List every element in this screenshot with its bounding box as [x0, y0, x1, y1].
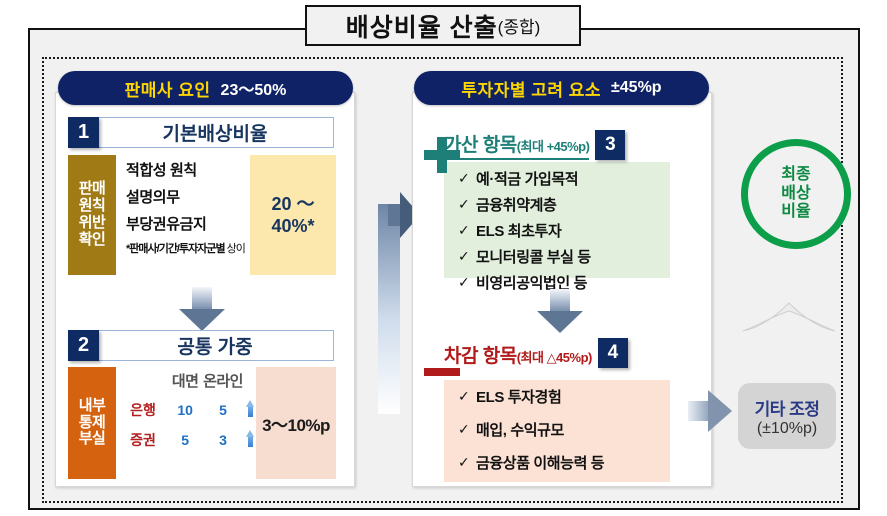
section-2-body: 내부통제부실 대면 온라인 은행 10 5	[68, 367, 336, 479]
row-label: 은행	[116, 395, 170, 425]
check-icon: ✓	[458, 222, 476, 239]
right-panel-header: 투자자별 고려 요소 ±45%p	[414, 71, 709, 105]
section-4-title-paren: (최대 △45%p)	[517, 350, 592, 365]
section-4-title: 차감 항목(최대 △45%p)	[444, 341, 592, 368]
etc-adjustment-box: 기타 조정 (±10%p)	[738, 383, 836, 449]
list-item: ✓매입, 수익규모	[458, 419, 670, 440]
list-item-label: ELS 최초투자	[476, 220, 561, 241]
list-item: ✓ELS 최초투자	[458, 220, 670, 241]
section-2-title-box: 공통 가중	[96, 330, 334, 361]
check-icon: ✓	[458, 388, 476, 405]
list-item: ✓금융상품 이해능력 등	[458, 452, 670, 473]
trend-cell	[246, 425, 256, 455]
list-item: 설명의무	[126, 186, 250, 207]
section-3-header: 가산 항목(최대 +45%p) 3	[444, 130, 625, 160]
page-title-sub: (종합)	[498, 13, 541, 38]
page-title-main: 배상비율 산출	[346, 8, 498, 44]
table-corner	[116, 369, 170, 395]
left-panel-header: 판매사 요인 23〜50%	[58, 71, 353, 105]
table-header-row: 대면 온라인	[116, 369, 256, 395]
section-1-value: 20 〜40%*	[271, 193, 314, 238]
row-label: 증권	[116, 425, 170, 455]
section-3-title-paren: (최대 +45%p)	[517, 139, 590, 154]
weight-table: 대면 온라인 은행 10 5 증권 5 3	[116, 369, 256, 455]
list-item-label: ELS 투자경험	[476, 386, 561, 407]
section-2-header: 2 공통 가중	[68, 330, 334, 361]
trend-column-header	[246, 369, 256, 395]
section-2-value-box: 3〜10%p	[256, 367, 336, 479]
section-1-header: 1 기본배상비율	[68, 117, 334, 148]
page-title: 배상비율 산출(종합)	[305, 5, 581, 46]
list-item: 부당권유금지	[126, 213, 250, 234]
check-icon: ✓	[458, 196, 476, 213]
check-icon: ✓	[458, 454, 476, 471]
check-icon: ✓	[458, 170, 476, 187]
right-panel-title: 투자자별 고려 요소	[461, 76, 601, 101]
trend-cell	[246, 395, 256, 425]
final-ratio-line-3: 비율	[781, 203, 810, 221]
section-2-badge: 2	[68, 330, 99, 361]
section-2-vertical-label-text: 내부통제부실	[79, 398, 106, 448]
etc-adjustment-value: (±10%p)	[757, 420, 817, 438]
list-item-label: 모니터링콜 부실 등	[476, 246, 591, 267]
section-3-item-list: ✓예·적금 가입목적 ✓금융취약계층 ✓ELS 최초투자 ✓모니터링콜 부실 등…	[444, 162, 670, 278]
section-4-title-text: 차감 항목	[444, 346, 517, 367]
table-row: 은행 10 5	[116, 395, 256, 425]
section-3-title: 가산 항목(최대 +45%p)	[444, 130, 589, 160]
cell-value: 10	[170, 395, 200, 425]
diagram-canvas: 배상비율 산출(종합) 판매사 요인 23〜50% 1 기본배상비율 판매원칙위…	[0, 0, 887, 516]
section-3-badge: 3	[595, 130, 625, 160]
right-panel-range: ±45%p	[611, 79, 662, 97]
list-item-label: 매입, 수익규모	[476, 419, 564, 440]
section-1-vertical-label-text: 판매원칙위반확인	[79, 181, 106, 248]
section-1-value-box: 20 〜40%*	[250, 155, 336, 275]
column-header: 온라인	[200, 369, 245, 395]
table-row: 증권 5 3	[116, 425, 256, 455]
section-1-item-list: 적합성 원칙 설명의무 부당권유금지 *판매사/기간/투자자군별 상이	[116, 155, 250, 275]
section-1-vertical-label: 판매원칙위반확인	[68, 155, 116, 275]
cell-value: 5	[200, 395, 245, 425]
minus-icon	[424, 368, 460, 376]
plus-icon	[424, 137, 460, 173]
final-ratio-line-1: 최종	[781, 166, 810, 184]
section-2-title: 공통 가중	[177, 332, 252, 359]
check-icon: ✓	[458, 421, 476, 438]
section-1-title-box: 기본배상비율	[96, 117, 334, 148]
section-1-body: 판매원칙위반확인 적합성 원칙 설명의무 부당권유금지 *판매사/기간/투자자군…	[68, 155, 336, 275]
section-2-vertical-label: 내부통제부실	[68, 367, 116, 479]
footnote-tail: 상이	[225, 243, 245, 255]
section-1-badge: 1	[68, 117, 99, 148]
final-ratio-circle: 최종 배상 비율	[741, 139, 851, 249]
cell-value: 5	[170, 425, 200, 455]
up-arrow-icon	[246, 430, 255, 447]
section-4-item-list: ✓ELS 투자경험 ✓매입, 수익규모 ✓금융상품 이해능력 등	[444, 380, 670, 482]
up-chevron-icon	[739, 295, 839, 335]
section-2-table-wrap: 대면 온라인 은행 10 5 증권 5 3	[116, 367, 256, 479]
list-item-label: 금융상품 이해능력 등	[476, 452, 604, 473]
section-2-value: 3〜10%p	[262, 411, 330, 436]
up-arrow-icon	[246, 400, 255, 417]
left-panel-range: 23〜50%	[221, 76, 287, 100]
left-panel-title: 판매사 요인	[125, 76, 211, 101]
list-item: ✓금융취약계층	[458, 194, 670, 215]
section-4-header: 차감 항목(최대 △45%p) 4	[444, 338, 628, 368]
list-item-label: 예·적금 가입목적	[476, 168, 578, 189]
list-item: ✓모니터링콜 부실 등	[458, 246, 670, 267]
column-header: 대면	[170, 369, 200, 395]
footnote-emph: *판매사/기간/투자자군별	[126, 243, 225, 255]
list-item: ✓예·적금 가입목적	[458, 168, 670, 189]
arrow-down-icon	[179, 287, 225, 331]
elbow-arrow-icon	[358, 180, 420, 414]
section-1-title: 기본배상비율	[163, 119, 268, 146]
etc-adjustment-label: 기타 조정	[755, 395, 820, 420]
final-ratio-line-2: 배상	[781, 185, 810, 203]
check-icon: ✓	[458, 248, 476, 265]
section-1-footnote: *판매사/기간/투자자군별 상이	[126, 240, 250, 256]
list-item-label: 금융취약계층	[476, 194, 556, 215]
section-4-badge: 4	[598, 338, 628, 368]
list-item: 적합성 원칙	[126, 159, 250, 180]
check-icon: ✓	[458, 274, 476, 291]
cell-value: 3	[200, 425, 245, 455]
arrow-right-icon	[688, 390, 732, 432]
list-item: ✓ELS 투자경험	[458, 386, 670, 407]
arrow-down-icon	[537, 289, 583, 333]
